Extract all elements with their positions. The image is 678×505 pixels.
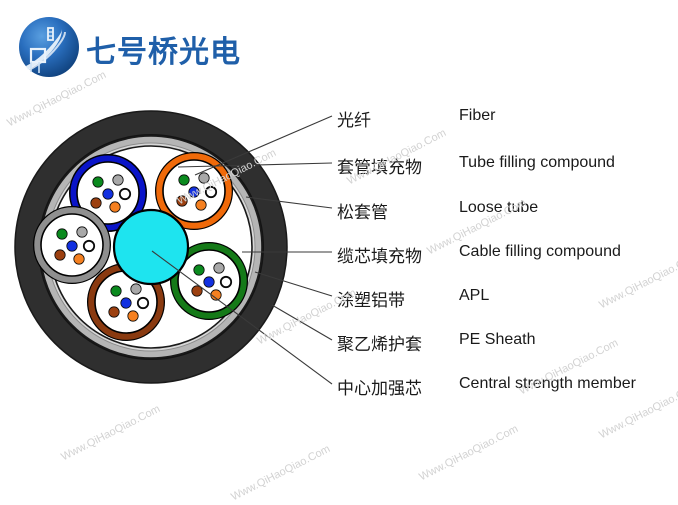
label-central-strength-member-cn: 中心加强芯: [337, 374, 422, 399]
label-cable-filling-compound-cn: 缆芯填充物: [337, 242, 422, 267]
label-pe-sheath-en: PE Sheath: [459, 331, 536, 349]
label-tube-filling-compound-cn: 套管填充物: [337, 153, 422, 178]
label-tube-filling-compound-en: Tube filling compound: [459, 154, 615, 172]
label-cable-filling-compound-en: Cable filling compound: [459, 243, 621, 261]
label-fiber-cn: 光纤: [337, 106, 371, 131]
brand-logo: 七号桥光电: [18, 16, 248, 78]
watermark-text: Www.QiHaoQiao.Com: [229, 443, 332, 503]
label-apl-en: APL: [459, 287, 489, 305]
label-pe-sheath-cn: 聚乙烯护套: [337, 330, 422, 355]
cable-cross-section: [8, 108, 318, 418]
bridge-circle-logo-icon: [18, 16, 80, 78]
label-fiber-en: Fiber: [459, 107, 495, 125]
watermark-text: Www.QiHaoQiao.Com: [417, 423, 520, 483]
label-central-strength-member-en: Central strength member: [459, 375, 636, 393]
gray-loose-tube: [34, 207, 110, 283]
label-loose-tube-en: Loose tube: [459, 199, 538, 217]
label-apl-cn: 涂塑铝带: [337, 286, 405, 311]
label-loose-tube-cn: 松套管: [337, 198, 388, 223]
diagram-canvas: 七号桥光电: [0, 0, 678, 505]
brand-name: 七号桥光电: [86, 27, 241, 71]
central-strength-member: [114, 210, 188, 284]
